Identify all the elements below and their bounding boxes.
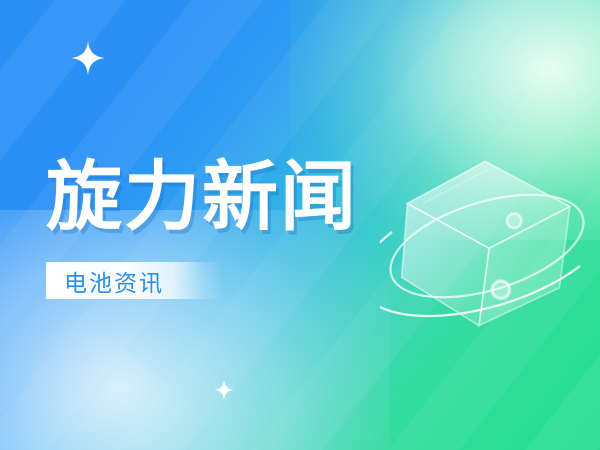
news-banner: 旋力新闻 电池资讯 bbox=[0, 0, 600, 450]
orbit-ring-back bbox=[380, 175, 595, 318]
sparkle-icon-top-left bbox=[71, 41, 105, 75]
glass-cube-illustration bbox=[380, 140, 595, 340]
subtitle-banner: 电池资讯 bbox=[46, 262, 222, 299]
pale-glow-bottom-left bbox=[0, 210, 390, 450]
sparkle-icon-bottom-left bbox=[214, 380, 234, 400]
orbit-ring-front bbox=[380, 232, 580, 316]
cube-dot-lower bbox=[489, 278, 513, 302]
page-title: 旋力新闻 bbox=[46, 160, 358, 236]
cube-dot-upper bbox=[504, 211, 524, 231]
cube-body bbox=[395, 154, 573, 334]
subtitle-label: 电池资讯 bbox=[64, 264, 164, 298]
diagonal-light-band-lower bbox=[0, 300, 210, 450]
